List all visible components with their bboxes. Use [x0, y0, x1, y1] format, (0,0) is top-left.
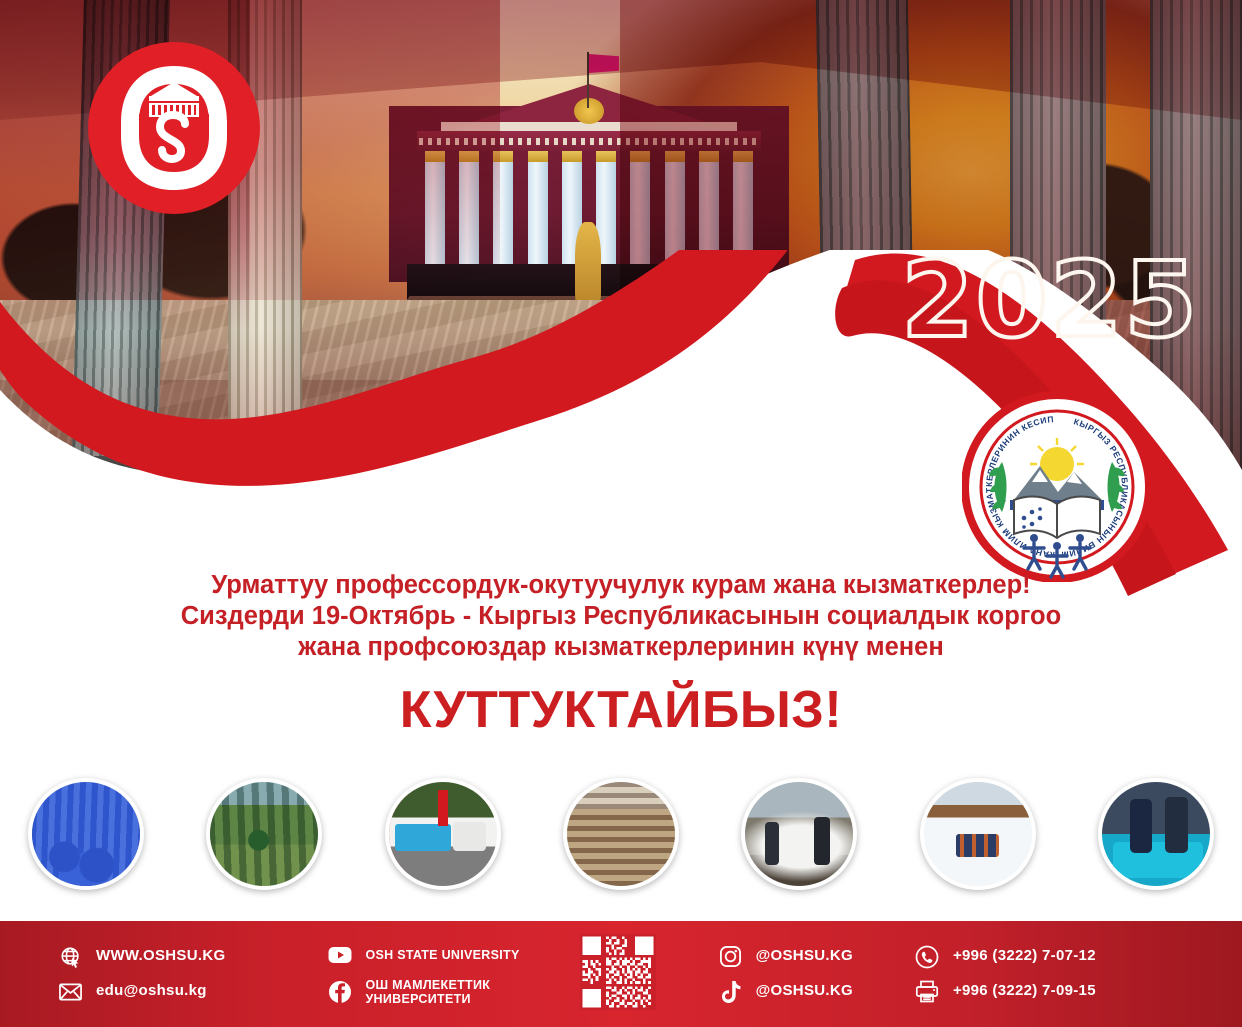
photo-thumbnail-strip: [0, 778, 1242, 896]
footer-youtube[interactable]: OSH STATE UNIVERSITY: [327, 943, 519, 968]
contact-footer: WWW.OSHSU.KG edu@oshsu.kg: [0, 921, 1242, 1027]
tiktok-icon: [718, 979, 743, 1004]
thumb-mobile-van[interactable]: [385, 778, 501, 890]
qr-code-icon: [580, 934, 656, 1010]
footer-phone[interactable]: +996 (3222) 7-07-12: [915, 944, 1096, 969]
footer-email-label: edu@oshsu.kg: [96, 983, 207, 1000]
building-crest: [574, 98, 604, 124]
footer-email[interactable]: edu@oshsu.kg: [58, 979, 225, 1004]
thumb-student-gathering[interactable]: [28, 778, 144, 890]
footer-instagram[interactable]: @OSHSU.KG: [718, 944, 853, 969]
footer-tiktok-label: @OSHSU.KG: [756, 983, 853, 1000]
footer-website[interactable]: WWW.OSHSU.KG: [58, 944, 225, 969]
trade-union-emblem: КЫРГЫЗ РЕСПУБЛИКАСЫНЫН БИЛИМ ЖАНА ИЛИМ К…: [962, 392, 1152, 582]
facebook-icon: [327, 979, 352, 1004]
footer-social-group-2: @OSHSU.KG @OSHSU.KG: [718, 944, 853, 1004]
headline-line-3: жана профсоюздар кызматкерлеринин күнү м…: [34, 632, 1208, 663]
osh-state-university-logo: [88, 42, 260, 214]
thumb-tree-planting[interactable]: [206, 778, 322, 890]
phone-icon: [915, 944, 940, 969]
globe-icon: [58, 944, 83, 969]
footer-website-label: WWW.OSHSU.KG: [96, 948, 225, 965]
footer-social-group-1: OSH STATE UNIVERSITY ОШ МАМЛЕКЕТТИК УНИВ…: [327, 943, 519, 1006]
greeting-headline: Урматтуу профессордук-окутуучулук курам …: [0, 570, 1242, 743]
printer-icon: [915, 979, 940, 1004]
footer-phone-label: +996 (3222) 7-07-12: [953, 948, 1096, 965]
youtube-icon: [327, 943, 352, 968]
instagram-icon: [718, 944, 743, 969]
thumb-outdoor-cooking[interactable]: [741, 778, 857, 890]
footer-instagram-label: @OSHSU.KG: [756, 948, 853, 965]
thumb-conference-hall[interactable]: [563, 778, 679, 890]
footer-youtube-label: OSH STATE UNIVERSITY: [365, 948, 519, 962]
year-label: 2025: [900, 248, 1200, 352]
footer-qr-code[interactable]: [580, 934, 656, 1015]
headline-congratulation: КУТТУКТАЙБЫЗ!: [34, 677, 1208, 743]
thumb-billiards[interactable]: [1098, 778, 1214, 890]
footer-fax[interactable]: +996 (3222) 7-09-15: [915, 979, 1096, 1004]
footer-web-group: WWW.OSHSU.KG edu@oshsu.kg: [58, 944, 225, 1004]
greeting-poster: 2025 КЫРГЫЗ РЕСПУБЛИКАСЫНЫН БИЛИМ ЖАНА И…: [0, 0, 1242, 1027]
envelope-icon: [58, 979, 83, 1004]
footer-facebook-label: ОШ МАМЛЕКЕТТИК УНИВЕРСИТЕТИ: [365, 978, 490, 1006]
footer-phone-group: +996 (3222) 7-07-12 +996 (3222) 7-09-15: [915, 944, 1096, 1004]
footer-tiktok[interactable]: @OSHSU.KG: [718, 979, 853, 1004]
headline-line-2: Сиздерди 19-Октябрь - Кыргыз Республикас…: [34, 601, 1208, 632]
footer-facebook[interactable]: ОШ МАМЛЕКЕТТИК УНИВЕРСИТЕТИ: [327, 978, 519, 1006]
thumb-winter-outing[interactable]: [920, 778, 1036, 890]
headline-line-1: Урматтуу профессордук-окутуучулук курам …: [34, 570, 1208, 601]
footer-fax-label: +996 (3222) 7-09-15: [953, 983, 1096, 1000]
